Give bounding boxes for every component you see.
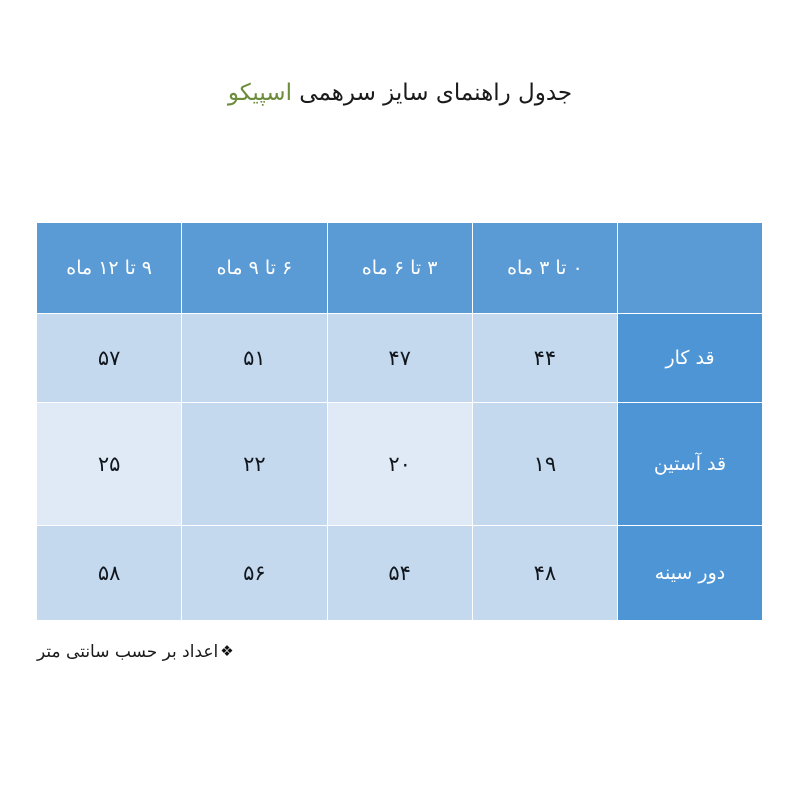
row-label-qad-astin: قد آستین bbox=[618, 403, 763, 526]
table-body: قد کار ۴۴ ۴۷ ۵۱ ۵۷ قد آستین ۱۹ ۲۰ ۲۲ ۲۵ … bbox=[37, 314, 763, 621]
footnote: ❖اعداد بر حسب سانتی متر bbox=[37, 638, 763, 665]
column-header-1: ۳ تا ۶ ماه bbox=[327, 223, 472, 314]
column-header-2: ۶ تا ۹ ماه bbox=[182, 223, 327, 314]
cell-qad-kar-3: ۵۷ bbox=[37, 314, 182, 403]
page-title-text: جدول راهنمای سایز سرهمی bbox=[292, 80, 572, 106]
cell-dor-sineh-3: ۵۸ bbox=[37, 526, 182, 621]
table-row: دور سینه ۴۸ ۵۴ ۵۶ ۵۸ bbox=[37, 526, 763, 621]
cell-qad-kar-0: ۴۴ bbox=[472, 314, 617, 403]
page-title: جدول راهنمای سایز سرهمی اسپیکو bbox=[0, 76, 800, 110]
cell-dor-sineh-1: ۵۴ bbox=[327, 526, 472, 621]
cell-qad-astin-0: ۱۹ bbox=[472, 403, 617, 526]
cell-dor-sineh-0: ۴۸ bbox=[472, 526, 617, 621]
column-header-3: ۹ تا ۱۲ ماه bbox=[37, 223, 182, 314]
size-guide-table: ۰ تا ۳ ماه ۳ تا ۶ ماه ۶ تا ۹ ماه ۹ تا ۱۲… bbox=[36, 222, 763, 621]
footnote-text: اعداد بر حسب سانتی متر bbox=[37, 639, 218, 665]
cell-qad-astin-1: ۲۰ bbox=[327, 403, 472, 526]
cell-qad-astin-2: ۲۲ bbox=[182, 403, 327, 526]
brand-name: اسپیکو bbox=[228, 80, 292, 106]
row-label-qad-kar: قد کار bbox=[618, 314, 763, 403]
table-header: ۰ تا ۳ ماه ۳ تا ۶ ماه ۶ تا ۹ ماه ۹ تا ۱۲… bbox=[37, 223, 763, 314]
table-corner-cell bbox=[618, 223, 763, 314]
cell-qad-astin-3: ۲۵ bbox=[37, 403, 182, 526]
column-header-0: ۰ تا ۳ ماه bbox=[472, 223, 617, 314]
table-header-row: ۰ تا ۳ ماه ۳ تا ۶ ماه ۶ تا ۹ ماه ۹ تا ۱۲… bbox=[37, 223, 763, 314]
row-label-dor-sineh: دور سینه bbox=[618, 526, 763, 621]
cell-qad-kar-2: ۵۱ bbox=[182, 314, 327, 403]
diamond-bullet-icon: ❖ bbox=[220, 638, 233, 664]
size-guide-page: جدول راهنمای سایز سرهمی اسپیکو ۰ تا ۳ ما… bbox=[0, 0, 800, 800]
cell-dor-sineh-2: ۵۶ bbox=[182, 526, 327, 621]
cell-qad-kar-1: ۴۷ bbox=[327, 314, 472, 403]
table-row: قد کار ۴۴ ۴۷ ۵۱ ۵۷ bbox=[37, 314, 763, 403]
table-row: قد آستین ۱۹ ۲۰ ۲۲ ۲۵ bbox=[37, 403, 763, 526]
